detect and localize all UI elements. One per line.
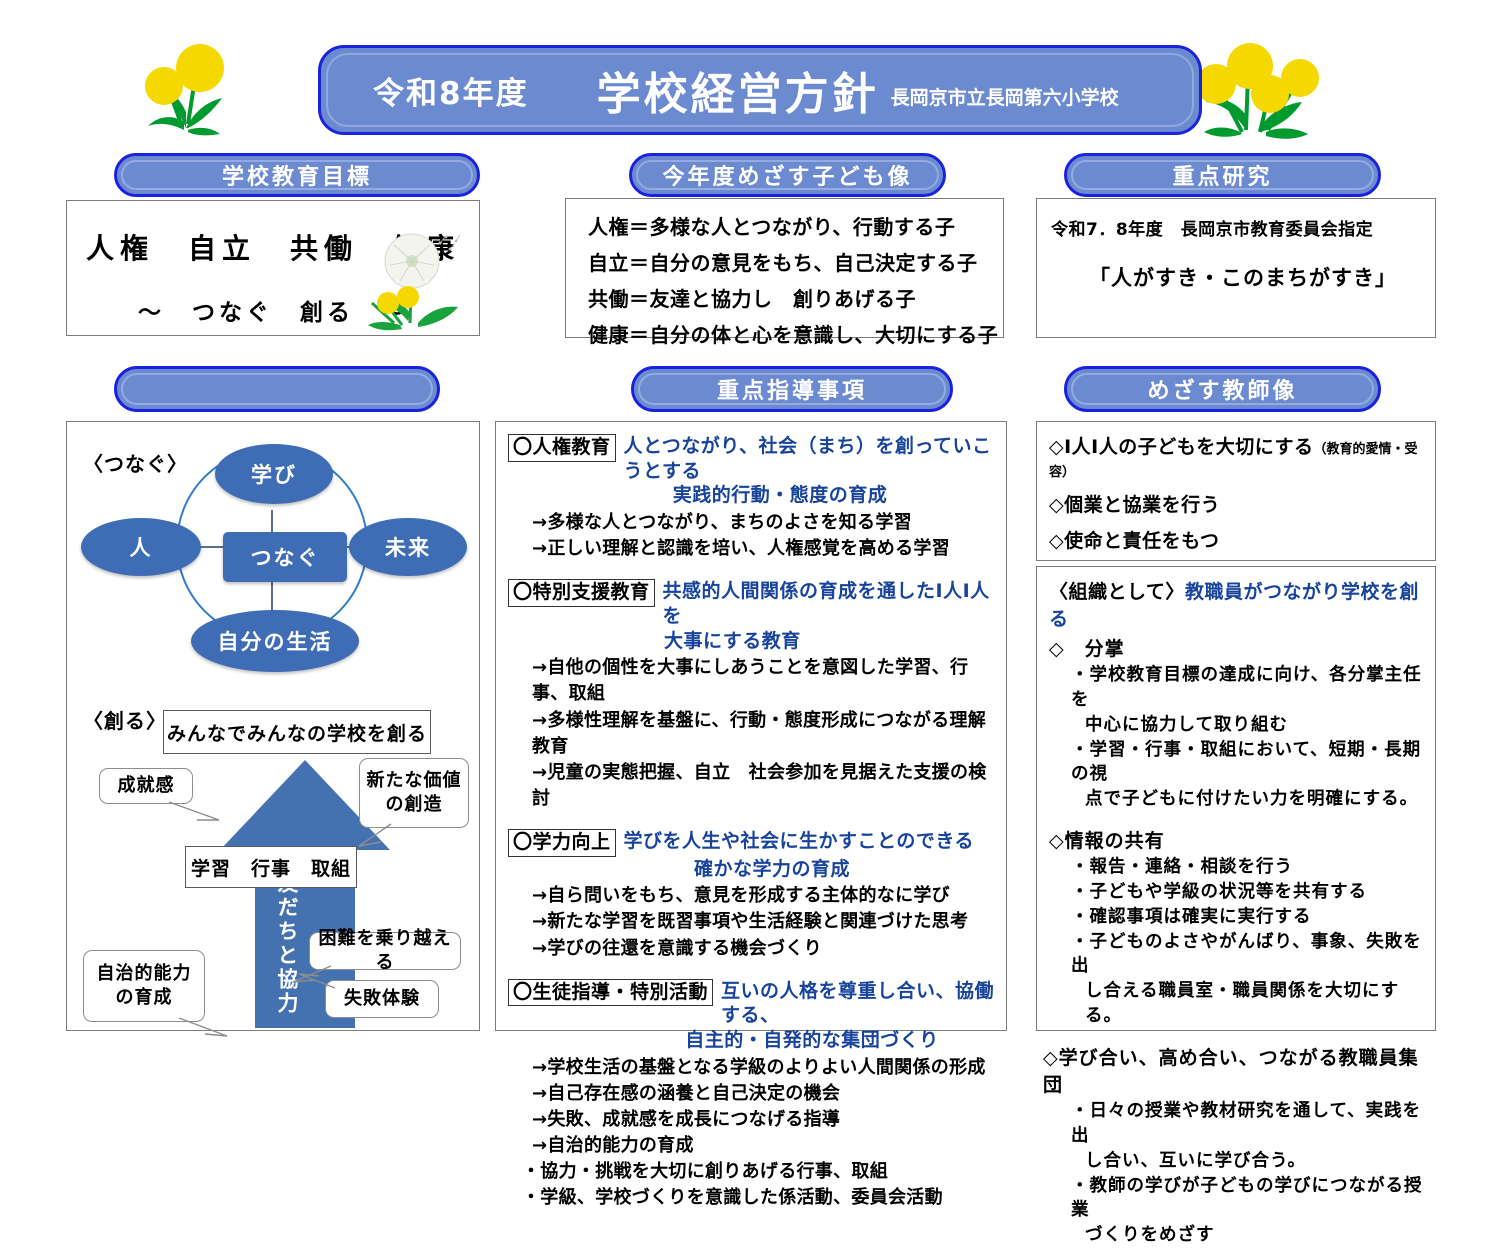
guidance-point: →自ら問いをもち、意見を形成する主体的なに学び — [532, 883, 996, 909]
guidance-point: →自己存在感の涵養と自己決定の機会 — [532, 1081, 996, 1107]
guidance-point: →新たな学習を既習事項や生活経験と関連づけた思考 — [532, 909, 996, 935]
callout-failure: 失敗体験 — [325, 980, 439, 1018]
organization-bullet: 中心に協力して取り組む — [1085, 713, 1427, 738]
organization-bullet: ・教師の学びが子どもの学びにつながる授業 — [1071, 1174, 1427, 1224]
organization-group: ◇ 分掌 ・学校教育目標の達成に向け、各分掌主任を 中心に協力して取り組む ・学… — [1049, 634, 1427, 812]
guidance-tag: 〇生徒指導・特別活動 — [508, 979, 713, 1007]
organization-bullet: し合える職員室・職員関係を大切にする。 — [1085, 979, 1427, 1029]
tsunagu-node-top: 学び — [215, 444, 333, 504]
guidance-subtitle2: 実践的行動・態度の育成 — [564, 483, 996, 508]
callout-tail — [167, 800, 225, 826]
organization-title-plain: 〈組織として〉 — [1049, 581, 1185, 603]
organization-bullet: ・日々の授業や教材研究を通して、実践を出 — [1071, 1099, 1427, 1149]
guidance-heading: 〇学力向上 学びを人生や社会に生かすことのできる — [508, 829, 996, 857]
guidance-point: →多様性理解を基盤に、行動・態度形成につながる理解教育 — [532, 708, 996, 760]
guidance-subtitle2: 大事にする教育 — [664, 629, 996, 654]
tsunagu-node-left-label: 人 — [130, 532, 153, 562]
child-image-line: 自立＝自分の意見をもち、自己決定する子 — [588, 247, 1003, 276]
section-pill-child-image-label: 今年度めざす子ども像 — [662, 159, 912, 191]
teacher-image-line: ◇Ⅰ人Ⅰ人の子どもを大切にする（教育的愛情・受容） — [1049, 432, 1427, 481]
guidance-subtitle2: 確かな学力の育成 — [548, 857, 996, 882]
guidance-box: 〇人権教育 人とつながり、社会（まち）を創っていこうとする 実践的行動・態度の育… — [495, 421, 1007, 1031]
guidance-tag: 〇人権教育 — [508, 434, 616, 462]
callout-failure-label: 失敗体験 — [344, 987, 420, 1011]
tsunagu-center-node: つなぐ — [223, 532, 347, 582]
guidance-point: →児童の実態把握、自立 社会参加を見据えた支援の検討 — [532, 760, 996, 812]
guidance-heading: 〇人権教育 人とつながり、社会（まち）を創っていこうとする — [508, 434, 996, 483]
tsunagu-node-bottom: 自分の生活 — [191, 610, 359, 672]
organization-group-head: ◇学び合い、高め合い、つながる教職員集団 — [1043, 1043, 1427, 1097]
guidance-subtitle: 学びを人生や社会に生かすことのできる — [624, 829, 974, 854]
guidance-subtitle: 互いの人格を尊重し合い、協働する、 — [721, 979, 996, 1028]
teacher-image-line: ◇個業と協業を行う — [1049, 490, 1427, 517]
page-title-bar: 令和8年度 学校経営方針 長岡京市立長岡第六小学校 — [318, 45, 1202, 135]
callout-overcome-label: 困難を乗り越える — [316, 927, 454, 976]
child-image-line: 共働＝友達と協力し 創りあげる子 — [588, 283, 1003, 312]
organization-bullet: し合い、互いに学び合う。 — [1085, 1149, 1427, 1174]
left-diagram-box: 〈つなぐ〉 学び 人 未来 自分の生活 つなぐ 〈創る〉 友だちと協力 みんなで… — [66, 421, 480, 1031]
child-image-box: 人権＝多様な人とつながり、行動する子 自立＝自分の意見をもち、自己決定する子 共… — [565, 198, 1004, 338]
dandelion-pair-icon — [126, 32, 246, 144]
guidance-tag: 〇学力向上 — [508, 829, 616, 857]
section-pill-teacher-image-label: めざす教師像 — [1147, 373, 1297, 405]
tsukuru-mid-box: 学習 行事 取組 — [185, 846, 357, 888]
organization-title: 〈組織として〉教職員がつながり学校を創る — [1049, 577, 1427, 631]
school-goal-box: 人権 自立 共働 健康 ～ つなぐ 創る ～ — [66, 200, 480, 336]
section-pill-priority-research: 重点研究 — [1064, 153, 1381, 197]
tsunagu-node-right-label: 未来 — [385, 532, 431, 562]
dandelion-seedhead-icon — [360, 229, 470, 333]
tsunagu-node-left: 人 — [81, 518, 201, 576]
callout-autonomy: 自治的能力 の育成 — [83, 950, 205, 1022]
guidance-heading: 〇生徒指導・特別活動 互いの人格を尊重し合い、協働する、 — [508, 979, 996, 1028]
tsukuru-top-box-label: みんなでみんなの学校を創る — [167, 719, 427, 746]
organization-group: ◇情報の共有 ・報告・連絡・相談を行う ・子どもや学級の状況等を共有する ・確認… — [1049, 826, 1427, 1029]
callout-autonomy-label: 自治的能力 の育成 — [97, 962, 192, 1011]
tsukuru-top-box: みんなでみんなの学校を創る — [163, 710, 431, 754]
organization-bullet: 点で子どもに付けたい力を明確にする。 — [1085, 787, 1427, 812]
organization-bullet: ・子どものよさやがんばり、事象、失敗を出 — [1071, 930, 1427, 980]
organization-bullet: ・学校教育目標の達成に向け、各分掌主任を — [1071, 663, 1427, 713]
priority-research-box: 令和7．8年度 長岡京市教育委員会指定 「人がすき・このまちがすき」 — [1036, 198, 1436, 338]
organization-group-head: ◇ 分掌 — [1049, 634, 1427, 661]
research-designation: 令和7．8年度 長岡京市教育委員会指定 — [1051, 215, 1435, 240]
organization-group-head: ◇情報の共有 — [1049, 826, 1427, 853]
callout-tail — [355, 822, 395, 852]
guidance-point: →多様な人とつながり、まちのよさを知る学習 — [532, 510, 996, 536]
section-pill-school-goal: 学校教育目標 — [114, 153, 480, 197]
guidance-tag: 〇特別支援教育 — [508, 579, 655, 607]
pill-inner-border — [121, 373, 433, 405]
callout-achievement-label: 成就感 — [118, 774, 175, 798]
section-pill-guidance-label: 重点指導事項 — [717, 373, 867, 405]
tsunagu-node-top-label: 学び — [251, 459, 297, 489]
guidance-subtitle2: 自主的・自発的な集団づくり — [628, 1028, 996, 1053]
guidance-item: 〇生徒指導・特別活動 互いの人格を尊重し合い、協働する、 自主的・自発的な集団づ… — [508, 979, 996, 1212]
school-name: 長岡京市立長岡第六小学校 — [891, 83, 1119, 110]
guidance-point: →自他の個性を大事にしあうことを意図した学習、行事、取組 — [532, 655, 996, 707]
tsukuru-mid-box-label: 学習 行事 取組 — [191, 854, 351, 881]
tsunagu-node-right: 未来 — [349, 518, 467, 576]
guidance-point: ・協力・挑戦を大切に創りあげる行事、取組 — [522, 1159, 996, 1185]
callout-tail — [177, 1016, 233, 1040]
child-image-line: 健康＝自分の体と心を意識し、大切にする子 — [588, 319, 1003, 348]
tsunagu-center-label: つなぐ — [251, 542, 320, 572]
guidance-point: →学びの往還を意識する機会づくり — [532, 936, 996, 962]
tsukuru-label: 〈創る〉 — [83, 705, 167, 734]
child-image-line: 人権＝多様な人とつながり、行動する子 — [588, 211, 1003, 240]
arrow-label: 友だちと協力 — [272, 872, 302, 1016]
organization-bullet: づくりをめざす — [1085, 1223, 1427, 1248]
organization-box: 〈組織として〉教職員がつながり学校を創る ◇ 分掌 ・学校教育目標の達成に向け、… — [1036, 566, 1436, 1031]
organization-group: ◇学び合い、高め合い、つながる教職員集団 ・日々の授業や教材研究を通して、実践を… — [1049, 1043, 1427, 1248]
organization-bullet: ・子どもや学級の状況等を共有する — [1071, 880, 1427, 905]
section-pill-guidance: 重点指導事項 — [631, 366, 953, 412]
tsunagu-node-bottom-label: 自分の生活 — [218, 626, 333, 656]
guidance-point: →自治的能力の育成 — [532, 1133, 996, 1159]
guidance-point: →失敗、成就感を成長につなげる指導 — [532, 1107, 996, 1133]
guidance-item: 〇特別支援教育 共感的人間関係の育成を通したⅠ人Ⅰ人を 大事にする教育 →自他の… — [508, 579, 996, 812]
organization-bullet: ・学習・行事・取組において、短期・長期の視 — [1071, 738, 1427, 788]
guidance-subtitle: 共感的人間関係の育成を通したⅠ人Ⅰ人を — [663, 579, 996, 628]
guidance-subtitle: 人とつながり、社会（まち）を創っていこうとする — [624, 434, 996, 483]
guidance-point: →正しい理解と認識を培い、人権感覚を高める学習 — [532, 536, 996, 562]
organization-bullet: ・報告・連絡・相談を行う — [1071, 855, 1427, 880]
guidance-heading: 〇特別支援教育 共感的人間関係の育成を通したⅠ人Ⅰ人を — [508, 579, 996, 628]
organization-bullet: ・確認事項は確実に実行する — [1071, 905, 1427, 930]
teacher-image-box: ◇Ⅰ人Ⅰ人の子どもを大切にする（教育的愛情・受容） ◇個業と協業を行う ◇使命と… — [1036, 421, 1436, 561]
teacher-image-line: ◇使命と責任をもつ — [1049, 526, 1427, 553]
guidance-item: 〇学力向上 学びを人生や社会に生かすことのできる 確かな学力の育成 →自ら問いを… — [508, 829, 996, 962]
section-pill-child-image: 今年度めざす子ども像 — [629, 153, 946, 197]
research-theme: 「人がすき・このまちがすき」 — [1051, 262, 1435, 292]
callout-achievement: 成就感 — [99, 768, 193, 804]
dandelion-cluster-icon — [1196, 32, 1322, 144]
guidance-item: 〇人権教育 人とつながり、社会（まち）を創っていこうとする 実践的行動・態度の育… — [508, 434, 996, 562]
section-pill-priority-research-label: 重点研究 — [1172, 159, 1272, 191]
guidance-point: ・学級、学校づくりを意識した係活動、委員会活動 — [522, 1185, 996, 1211]
section-pill-teacher-image: めざす教師像 — [1064, 366, 1381, 412]
callout-new-value: 新たな価値 の創造 — [359, 758, 469, 828]
page-title: 学校経営方針 — [597, 58, 879, 122]
teacher-image-text: ◇Ⅰ人Ⅰ人の子どもを大切にする — [1049, 436, 1313, 458]
callout-tail — [295, 970, 339, 994]
section-pill-blank — [114, 366, 440, 412]
guidance-point: →学校生活の基盤となる学級のよりよい人間関係の形成 — [532, 1055, 996, 1081]
callout-new-value-label: 新たな価値 の創造 — [367, 769, 462, 818]
section-pill-school-goal-label: 学校教育目標 — [222, 159, 372, 191]
title-era: 令和8年度 — [373, 68, 529, 113]
